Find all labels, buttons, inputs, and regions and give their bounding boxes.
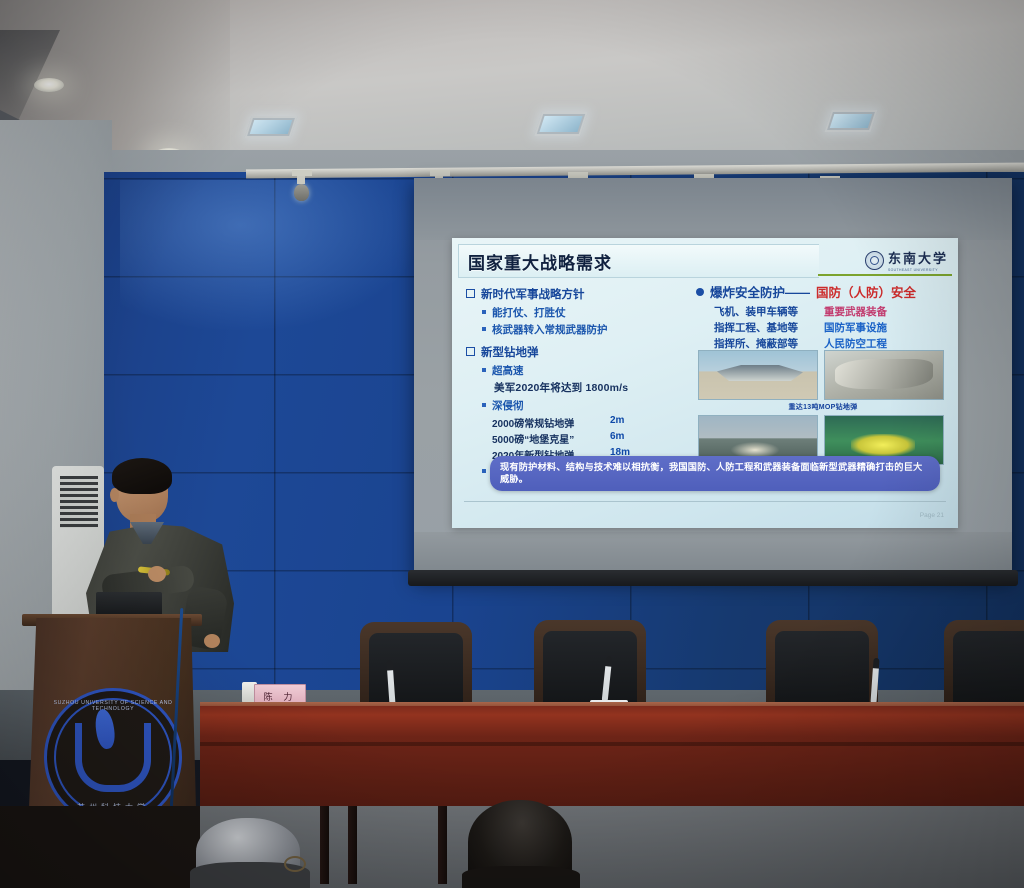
title-accent-rule: [818, 274, 952, 276]
data-row: 5000磅“地堡克星” 6m: [492, 431, 696, 446]
eyeglasses: [284, 856, 306, 872]
right-column-heading: 爆炸安全防护—— 国防（人防）安全: [696, 282, 946, 301]
name-plate-text: 陈 力: [264, 690, 297, 703]
bullet-heading-label: 新时代军事战略方针: [481, 286, 585, 302]
right-row-right: 国防军事设施: [824, 320, 887, 335]
heading-part-2: 国防（人防）安全: [816, 282, 916, 301]
sub-bullet: 核武器转入常规武器防护: [482, 322, 696, 337]
southeast-university-logo: 东南大学 SOUTHEAST UNIVERSITY: [865, 248, 948, 272]
heading-part-1: 爆炸安全防护——: [710, 282, 810, 301]
slide-left-column: 新时代军事战略方针 能打仗、打胜仗 核武器转入常规武器防护 新型钻地弹 超高速 …: [466, 286, 696, 481]
recessed-light: [244, 116, 297, 138]
slide-title: 国家重大战略需求: [468, 249, 612, 274]
small-square-bullet-icon: [482, 469, 486, 473]
right-row-left: 指挥工程、基地等: [714, 320, 818, 335]
chair-backrest: [953, 631, 1024, 712]
right-row-right: 人民防空工程: [824, 336, 887, 351]
slide-image-grid: 重达13吨MOP钻地弹: [698, 350, 948, 465]
presenter-hand: [148, 566, 166, 582]
table-leg: [348, 806, 357, 884]
data-row-value: 2m: [610, 415, 624, 430]
thumbnail-row-top: [698, 350, 948, 400]
right-row: 指挥所、掩蔽部等 人民防空工程: [714, 336, 946, 351]
right-row-left: 指挥所、掩蔽部等: [714, 336, 818, 351]
right-row-left: 飞机、装甲车辆等: [714, 304, 818, 319]
table-leg: [320, 806, 329, 884]
round-bullet-icon: [696, 288, 704, 296]
square-bullet-icon: [466, 347, 475, 356]
sub-bullet-label: 能打仗、打胜仗: [492, 305, 566, 320]
slide-right-column: 爆炸安全防护—— 国防（人防）安全 飞机、装甲车辆等 重要武器装备 指挥工程、基…: [696, 282, 946, 351]
bullet-heading: 新时代军事战略方针: [466, 286, 696, 302]
logo-english-name: SOUTHEAST UNIVERSITY: [888, 268, 948, 272]
bullet-heading: 新型钻地弹: [466, 344, 696, 360]
presenter-hair: [112, 458, 172, 494]
slide-page-number: Page 21: [920, 512, 944, 519]
sub-bullet-label: 核武器转入常规武器防护: [492, 322, 608, 337]
sub-bullet: 超高速: [482, 363, 696, 378]
conference-chair: [944, 620, 1024, 712]
conference-chair: [534, 620, 646, 712]
presenter-ear: [110, 488, 119, 502]
recessed-light: [824, 110, 877, 132]
small-square-bullet-icon: [482, 368, 486, 372]
sub-bullet-label: 深侵彻: [492, 398, 524, 413]
right-row-right: 重要武器装备: [824, 304, 887, 319]
slide-callout-box: 现有防护材料、结构与技术难以相抗衡，我国国防、人防工程和武器装备面临新型武器精确…: [490, 456, 940, 491]
floor-shadow: [0, 806, 200, 888]
screen-blank-top: [414, 178, 1012, 240]
chair-backrest: [775, 631, 869, 712]
data-row-label: 2000磅常规钻地弹: [492, 415, 610, 430]
recessed-light: [534, 112, 588, 136]
image-caption: 重达13吨MOP钻地弹: [698, 402, 948, 412]
screen-bottom-bar: [408, 570, 1018, 586]
presenter-right-hand: [204, 634, 220, 648]
audience-shoulders: [462, 866, 580, 888]
data-row-label: 5000磅“地堡克星”: [492, 431, 610, 446]
small-square-bullet-icon: [482, 327, 486, 331]
logo-chinese-name: 东南大学: [888, 248, 948, 267]
conference-chair: [766, 620, 878, 712]
projected-slide: 国家重大战略需求 东南大学 SOUTHEAST UNIVERSITY 新时代军事…: [452, 238, 958, 528]
callout-text: 现有防护材料、结构与技术难以相抗衡，我国国防、人防工程和武器装备面临新型武器精确…: [500, 461, 930, 486]
wall-light-reflection: [120, 180, 420, 330]
emblem-english-text: SUZHOU UNIVERSITY OF SCIENCE AND TECHNOL…: [47, 700, 179, 712]
sub-bullet-label: 超高速: [492, 363, 524, 378]
table-leg: [438, 806, 447, 884]
data-row-value: 6m: [610, 431, 624, 446]
small-square-bullet-icon: [482, 403, 486, 407]
lecture-hall-photo: 国家重大战略需求 东南大学 SOUTHEAST UNIVERSITY 新时代军事…: [0, 0, 1024, 888]
emblem-u-mark: [75, 723, 151, 792]
track-spotlight: [294, 184, 309, 201]
ceiling-downlight: [34, 78, 64, 92]
data-row: 2000磅常规钻地弹 2m: [492, 415, 696, 430]
thumbnail-bomb-closeup-image: [824, 350, 944, 400]
bullet-heading-label: 新型钻地弹: [481, 344, 539, 360]
conference-chair: [360, 622, 472, 714]
square-bullet-icon: [466, 289, 475, 298]
sub-bullet: 能打仗、打胜仗: [482, 305, 696, 320]
university-seal-icon: [865, 251, 884, 270]
thumbnail-bomber-image: [698, 350, 818, 400]
sub-bullet-detail: 美军2020年将达到 1800m/s: [494, 380, 696, 395]
right-row: 指挥工程、基地等 国防军事设施: [714, 320, 946, 335]
small-square-bullet-icon: [482, 310, 486, 314]
right-row: 飞机、装甲车辆等 重要武器装备: [714, 304, 946, 319]
sub-bullet: 深侵彻: [482, 398, 696, 413]
table-front-seam: [200, 742, 1024, 746]
slide-footer-rule: [464, 501, 946, 502]
